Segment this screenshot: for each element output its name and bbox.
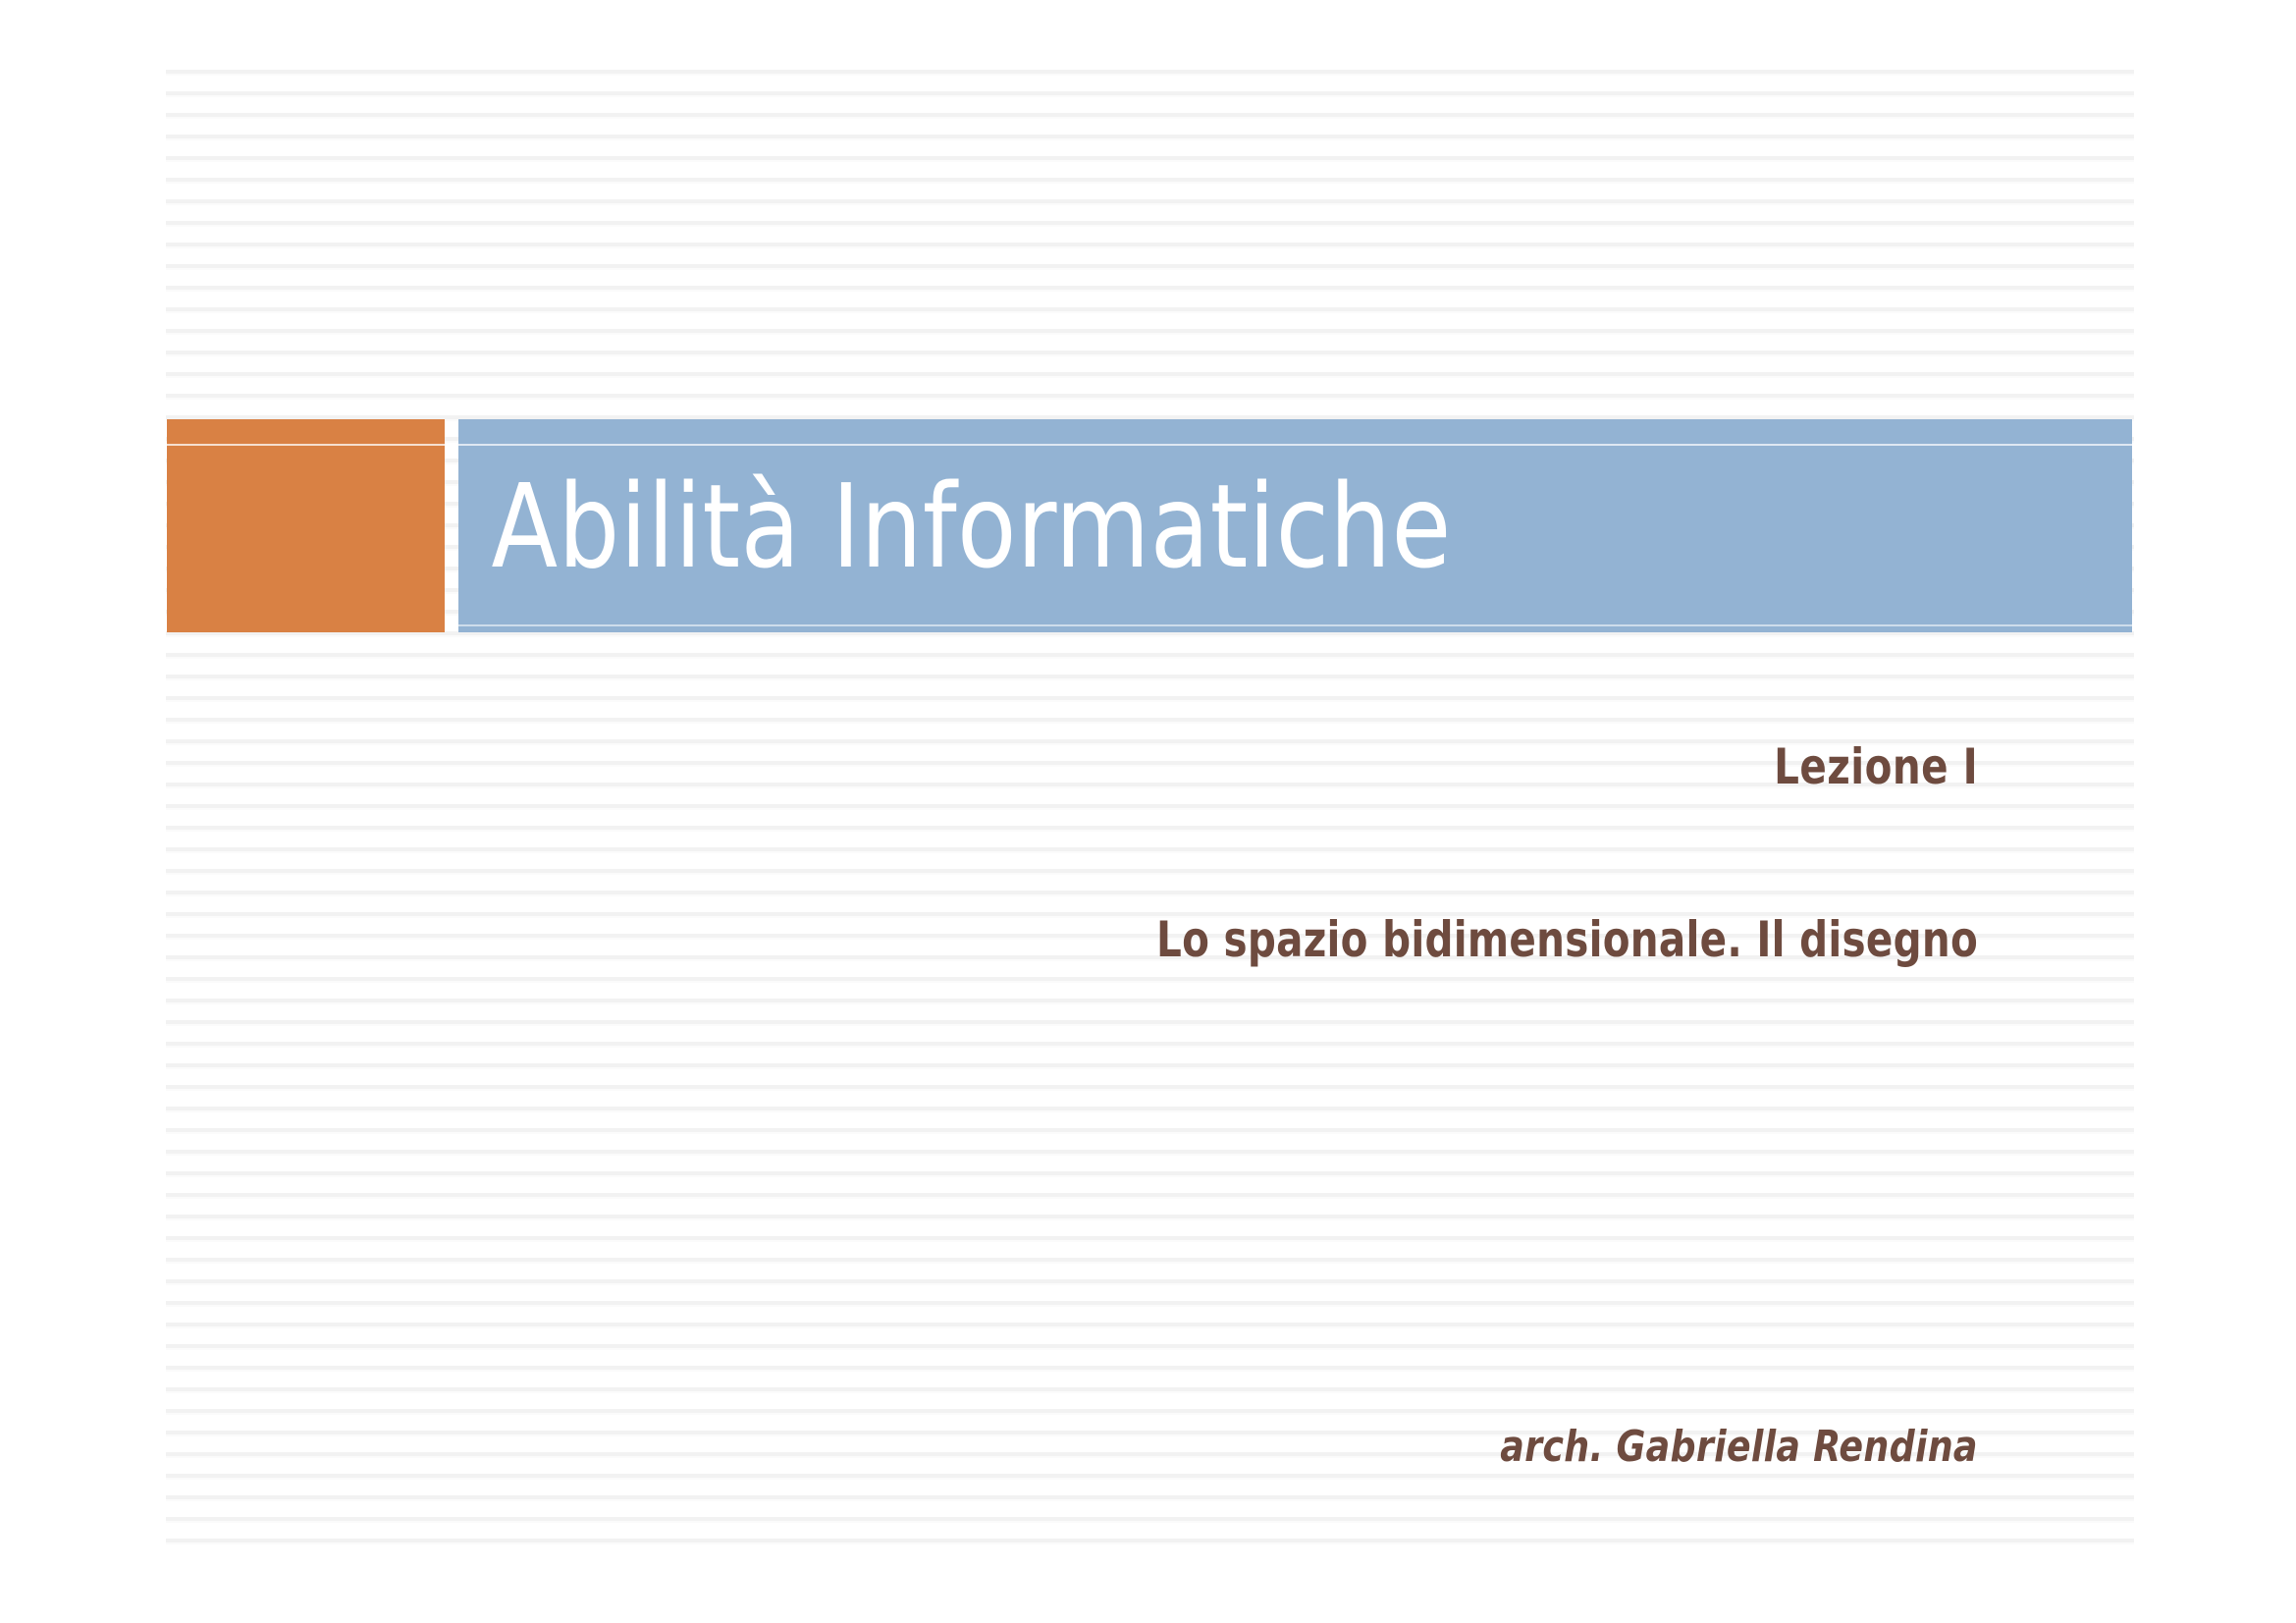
ruled-line-background bbox=[166, 63, 2134, 1547]
slide-title: Abilità Informatiche bbox=[458, 468, 1452, 584]
subtitle-stack: Lezione I Lo spazio bidimensionale. Il d… bbox=[0, 0, 2296, 1623]
author-label: arch. Gabriella Rendina bbox=[1501, 1422, 1978, 1472]
lesson-label: Lezione I bbox=[1774, 738, 1978, 795]
title-band: Abilità Informatiche bbox=[0, 419, 2296, 632]
presentation-slide: Abilità Informatiche Lezione I Lo spazio… bbox=[0, 0, 2296, 1623]
orange-accent-block bbox=[167, 419, 445, 632]
title-bar: Abilità Informatiche bbox=[458, 419, 2132, 632]
topic-label: Lo spazio bidimensionale. Il disegno bbox=[1156, 911, 1978, 968]
